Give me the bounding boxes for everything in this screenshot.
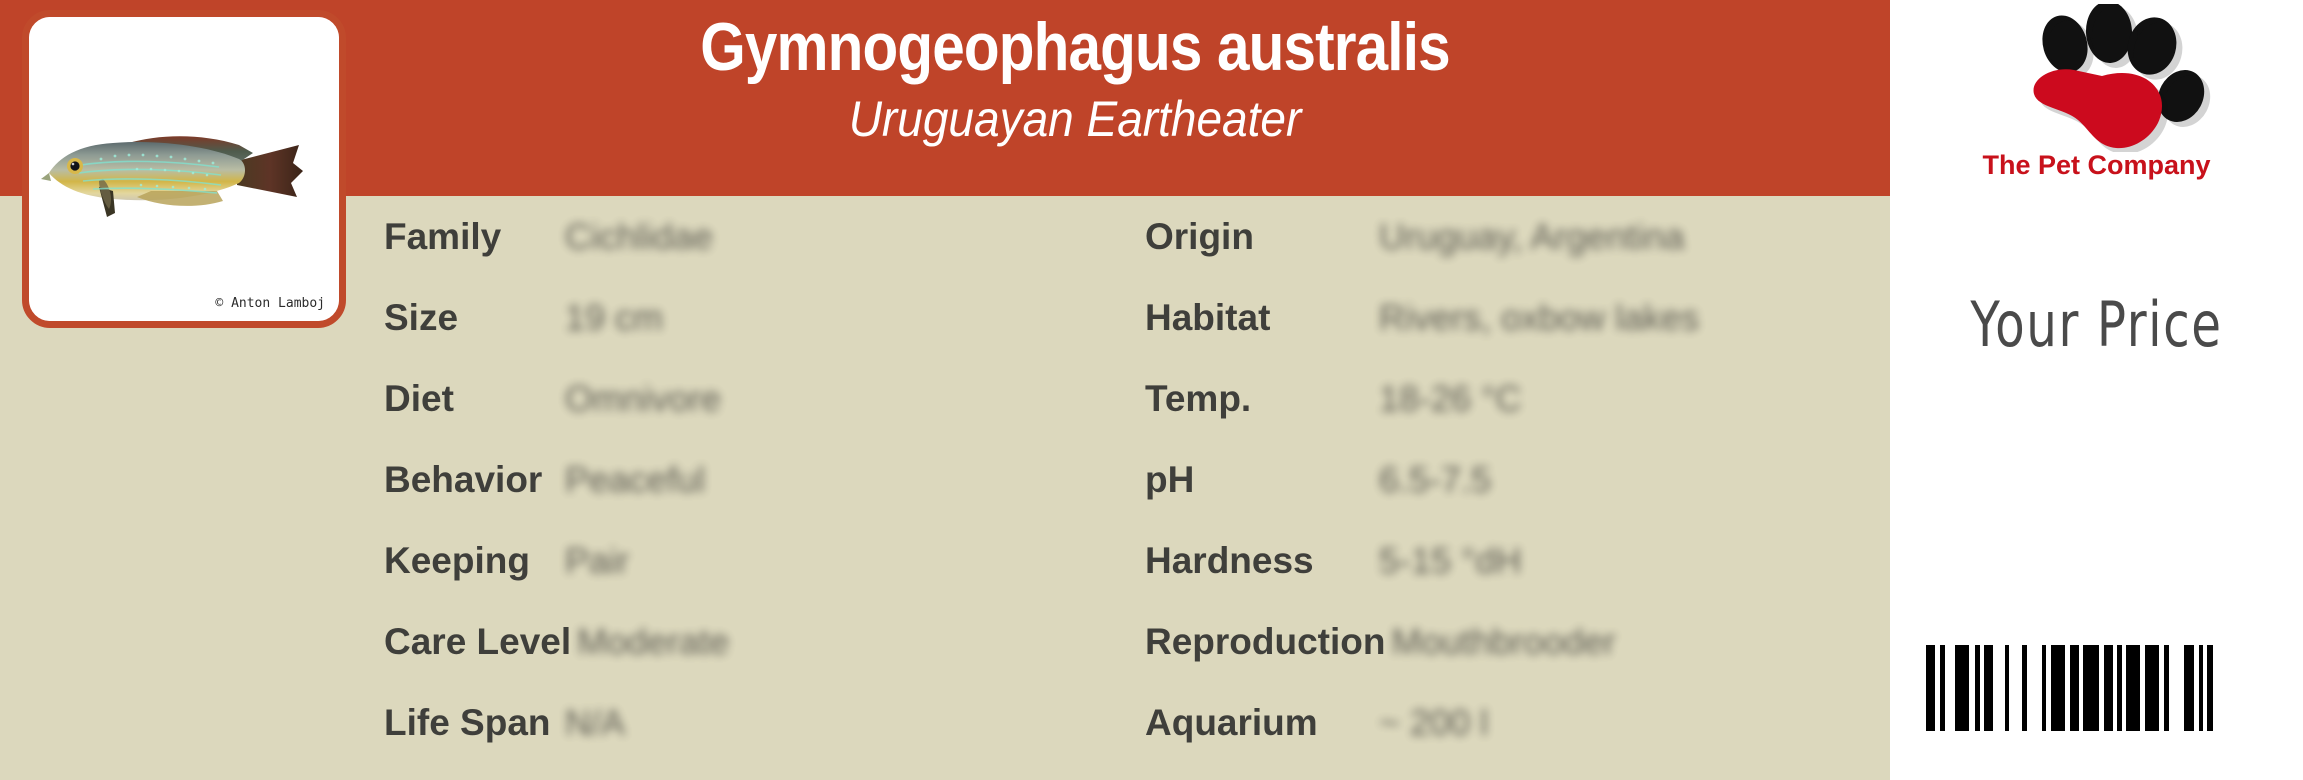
spec-label-reproduction: Reproduction bbox=[1145, 621, 1385, 663]
spec-row-diet: Diet Omnivore bbox=[384, 358, 1124, 439]
main-info-area: Gymnogeophagus australis Uruguayan Earth… bbox=[0, 0, 1890, 780]
spec-value-temp: 18-26 °C bbox=[1379, 378, 1521, 420]
spec-label-hardness: Hardness bbox=[1145, 540, 1373, 582]
spec-label-care-level: Care Level bbox=[384, 621, 571, 663]
spec-row-habitat: Habitat Rivers, oxbow lakes bbox=[1145, 277, 1885, 358]
spec-value-keeping: Pair bbox=[565, 540, 629, 582]
spec-value-origin: Uruguay, Argentina bbox=[1379, 216, 1685, 258]
spec-label-habitat: Habitat bbox=[1145, 297, 1373, 339]
spec-row-care-level: Care Level Moderate bbox=[384, 601, 1124, 682]
spec-label-behavior: Behavior bbox=[384, 459, 559, 501]
spec-value-aquarium: ~ 200 l bbox=[1379, 702, 1488, 744]
spec-value-diet: Omnivore bbox=[565, 378, 721, 420]
price-label: Your Price bbox=[1935, 288, 2257, 361]
spec-column-left: Family Cichlidae Size 19 cm Diet Omnivor… bbox=[384, 196, 1124, 763]
spec-row-behavior: Behavior Peaceful bbox=[384, 439, 1124, 520]
spec-label-life-span: Life Span bbox=[384, 702, 559, 744]
spec-row-family: Family Cichlidae bbox=[384, 196, 1124, 277]
spec-row-aquarium: Aquarium ~ 200 l bbox=[1145, 682, 1885, 763]
brand-name: The Pet Company bbox=[1890, 150, 2303, 181]
spec-label-size: Size bbox=[384, 297, 559, 339]
spec-label-aquarium: Aquarium bbox=[1145, 702, 1373, 744]
brand-logo: The Pet Company bbox=[1890, 4, 2303, 204]
spec-label-diet: Diet bbox=[384, 378, 559, 420]
spec-value-family: Cichlidae bbox=[565, 216, 713, 258]
pet-shop-species-label: Gymnogeophagus australis Uruguayan Earth… bbox=[0, 0, 2303, 780]
spec-row-life-span: Life Span N/A bbox=[384, 682, 1124, 763]
spec-value-care-level: Moderate bbox=[577, 621, 729, 663]
spec-row-hardness: Hardness 5-15 °dH bbox=[1145, 520, 1885, 601]
spec-row-temp: Temp. 18-26 °C bbox=[1145, 358, 1885, 439]
spec-column-right: Origin Uruguay, Argentina Habitat Rivers… bbox=[1145, 196, 1885, 763]
spec-value-behavior: Peaceful bbox=[565, 459, 705, 501]
spec-row-keeping: Keeping Pair bbox=[384, 520, 1124, 601]
spec-row-reproduction: Reproduction Mouthbrooder bbox=[1145, 601, 1885, 682]
spec-value-reproduction: Mouthbrooder bbox=[1391, 621, 1615, 663]
spec-label-keeping: Keeping bbox=[384, 540, 559, 582]
spec-value-hardness: 5-15 °dH bbox=[1379, 540, 1521, 582]
spec-label-ph: pH bbox=[1145, 459, 1373, 501]
paw-print-icon bbox=[1890, 4, 2303, 152]
spec-value-ph: 6.5-7.5 bbox=[1379, 459, 1491, 501]
species-spec-table: Family Cichlidae Size 19 cm Diet Omnivor… bbox=[0, 196, 1890, 780]
price-panel: The Pet Company Your Price bbox=[1890, 0, 2303, 780]
spec-label-origin: Origin bbox=[1145, 216, 1373, 258]
spec-value-habitat: Rivers, oxbow lakes bbox=[1379, 297, 1699, 339]
spec-value-life-span: N/A bbox=[565, 702, 625, 744]
spec-label-family: Family bbox=[384, 216, 559, 258]
spec-value-size: 19 cm bbox=[565, 297, 663, 339]
spec-row-ph: pH 6.5-7.5 bbox=[1145, 439, 1885, 520]
product-barcode bbox=[1926, 645, 2244, 731]
spec-row-size: Size 19 cm bbox=[384, 277, 1124, 358]
spec-row-origin: Origin Uruguay, Argentina bbox=[1145, 196, 1885, 277]
spec-label-temp: Temp. bbox=[1145, 378, 1373, 420]
